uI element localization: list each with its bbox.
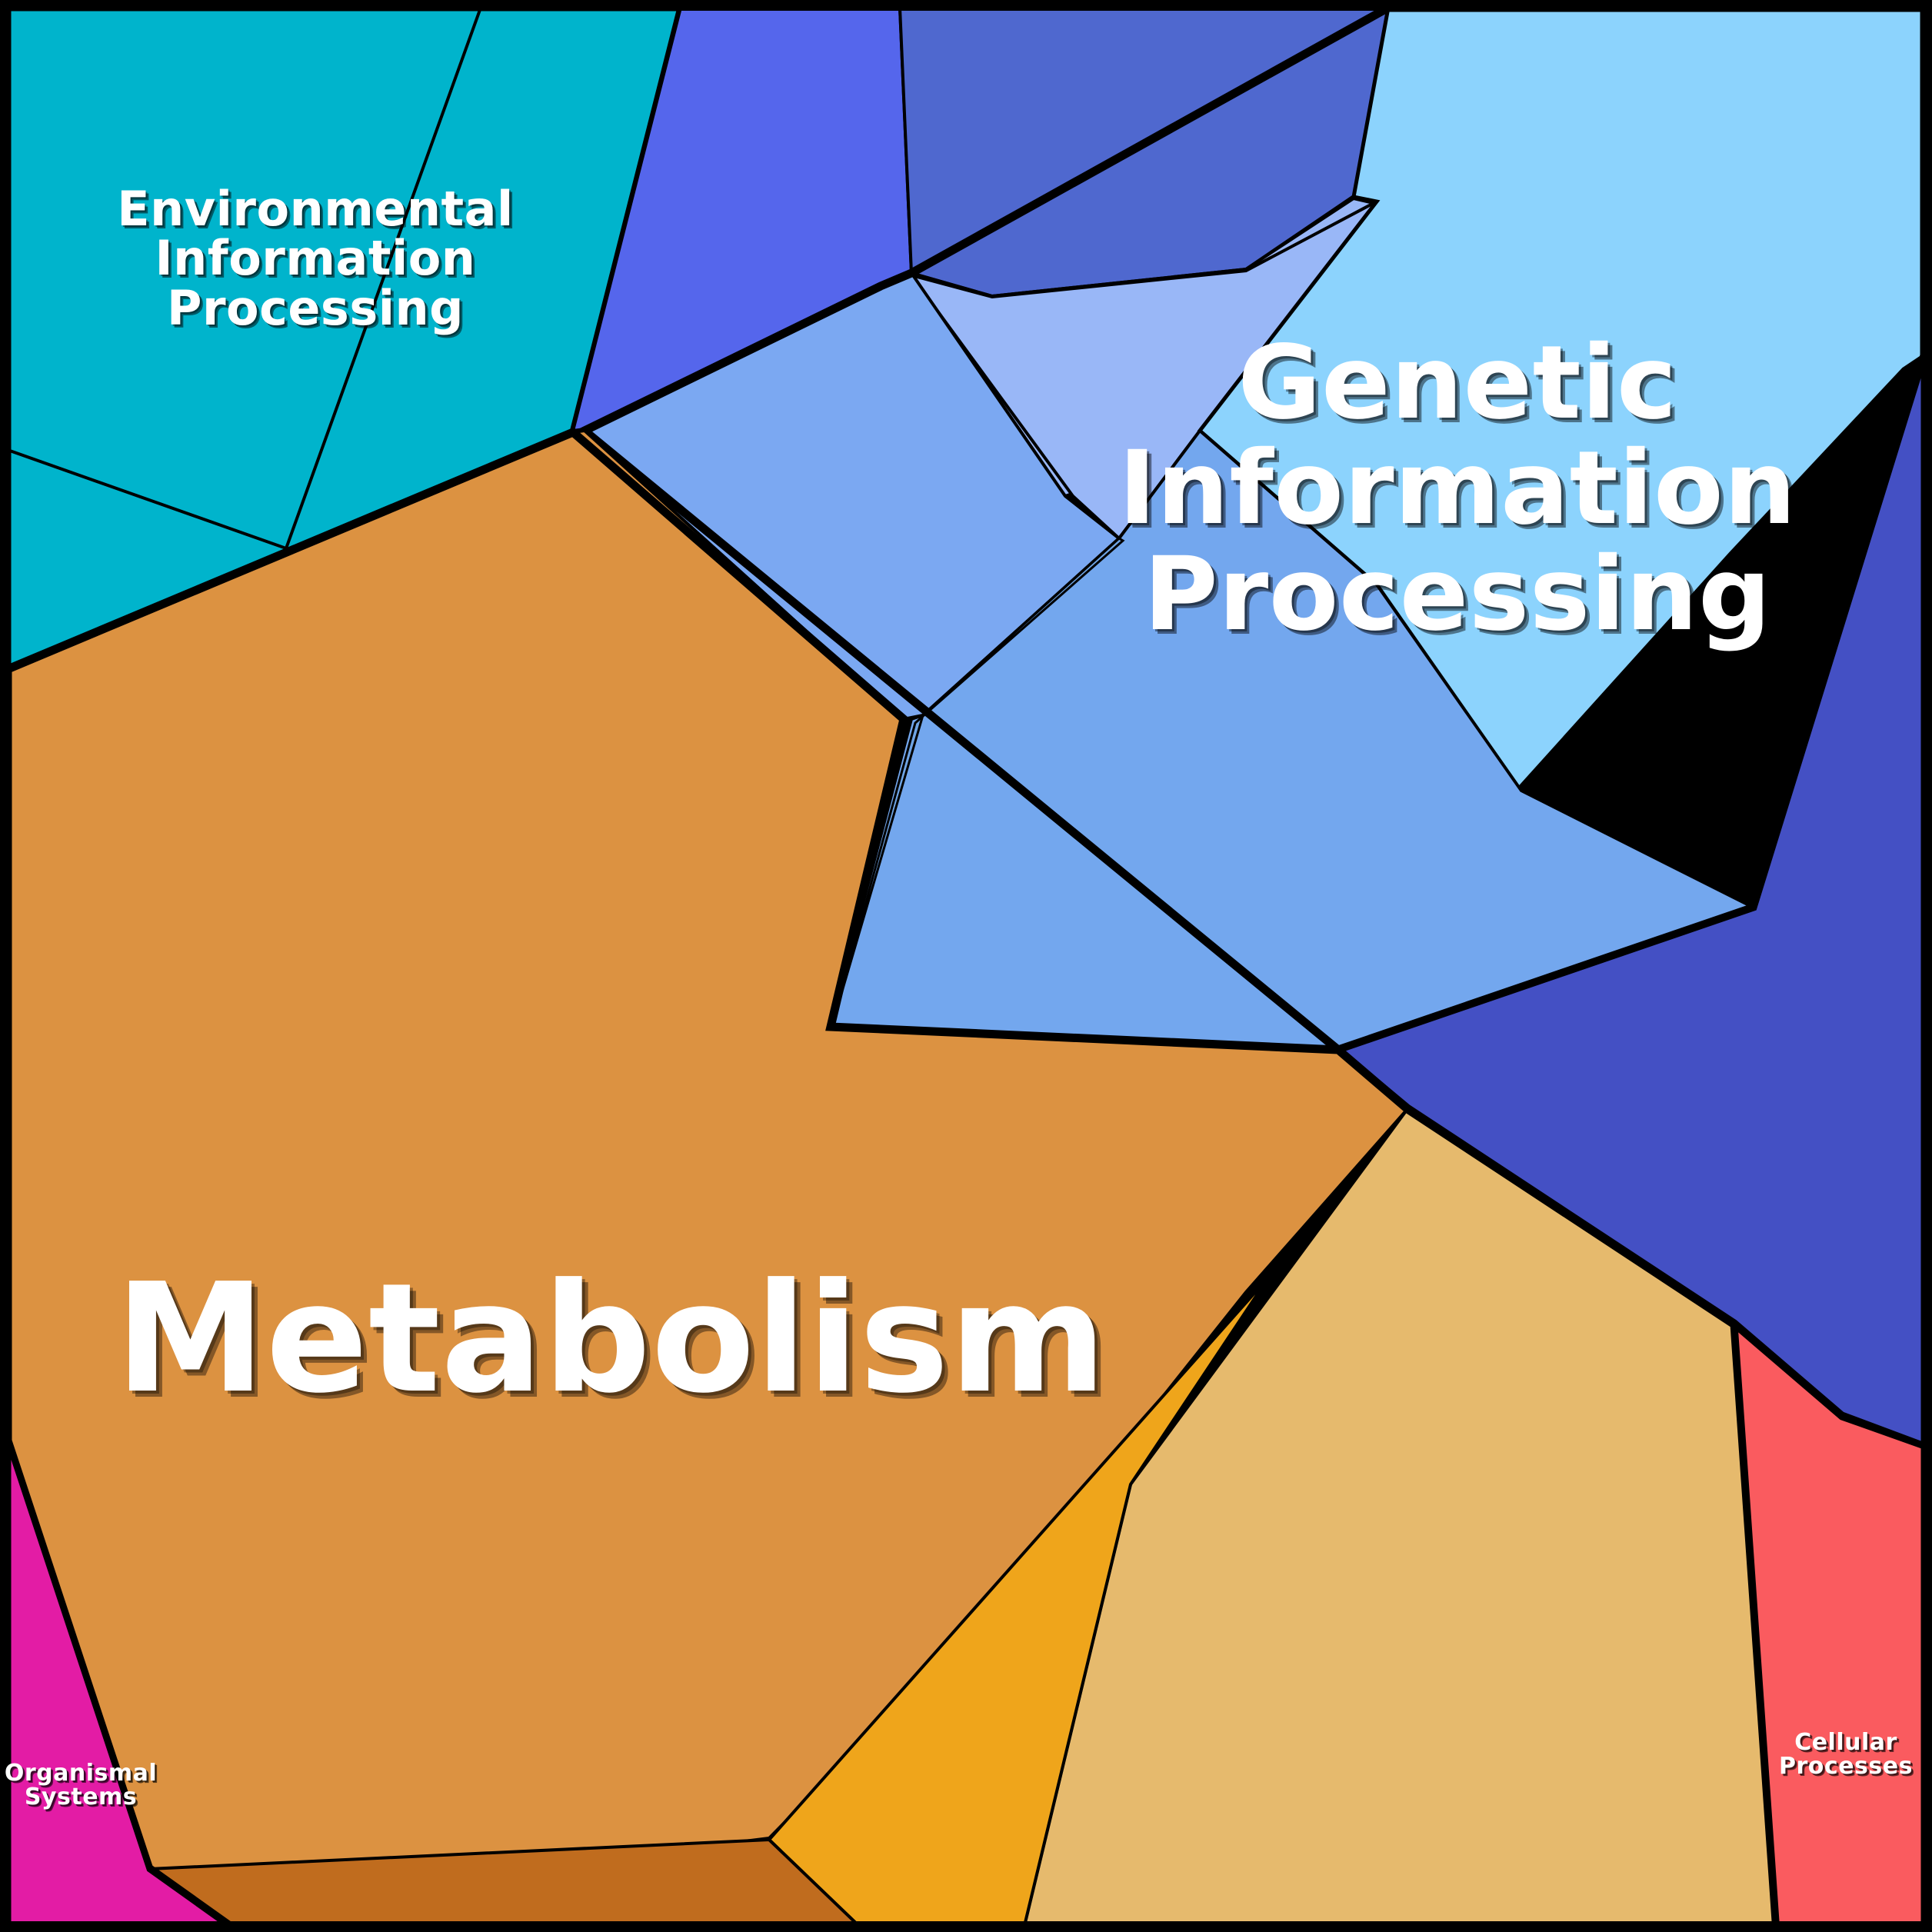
voronoi-treemap-figure: Environmental Information Processing Gen… xyxy=(0,0,1932,1932)
voronoi-canvas xyxy=(0,0,1932,1932)
